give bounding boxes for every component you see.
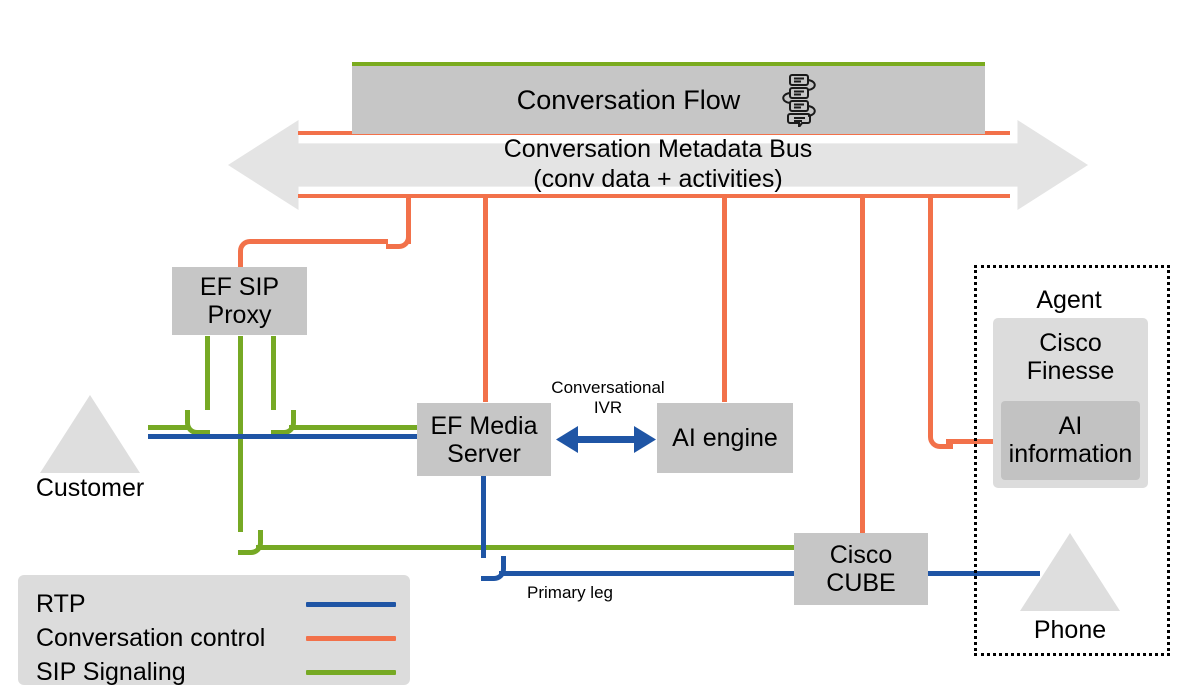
green-proxy-left-vertical [205, 336, 210, 410]
node-cisco-cube[interactable]: Cisco CUBE [794, 533, 928, 605]
legend: RTP Conversation control SIP Signaling [18, 575, 410, 685]
bus-label: Conversation Metadata Bus (conv data + a… [228, 134, 1088, 194]
green-proxy-right-vertical [271, 336, 276, 410]
blue-run-primary-leg [499, 571, 795, 576]
legend-swatch-conversation-control [306, 636, 396, 641]
conversation-flow-label: Conversation Flow [517, 85, 741, 116]
legend-label-sip-signaling: SIP Signaling [36, 658, 186, 687]
conversational-ivr-line1: Conversational [543, 378, 673, 398]
orange-run-to-sipproxy [258, 239, 388, 244]
green-run-to-ciscocube [256, 545, 794, 550]
node-ef-media-server[interactable]: EF Media Server [417, 403, 551, 476]
blue-run-customer-mediaserver [148, 434, 420, 439]
phone-label: Phone [1000, 616, 1140, 645]
cisco-finesse-label: Cisco Finesse [993, 330, 1148, 385]
cisco-finesse-line2: Finesse [993, 358, 1148, 386]
customer-label: Customer [20, 474, 160, 503]
orange-drop-ciscocube [860, 196, 865, 536]
legend-item-rtp: RTP [36, 589, 396, 619]
orange-drop-aiinfo-vertical [928, 196, 933, 428]
ef-media-server-line1: EF Media [431, 412, 538, 440]
ai-engine-label: AI engine [672, 424, 778, 452]
legend-item-conversation-control: Conversation control [36, 623, 396, 653]
green-run-to-mediaserver [289, 425, 419, 430]
orange-elbow-c [928, 424, 953, 449]
bus-label-line1: Conversation Metadata Bus [228, 134, 1088, 164]
legend-swatch-rtp [306, 602, 396, 607]
green-run-to-customer [148, 425, 188, 430]
customer-triangle-icon [40, 395, 140, 473]
conversation-flow-box[interactable]: Conversation Flow [352, 62, 985, 134]
conversational-ivr-arrow [556, 424, 656, 456]
conversation-flow-icon [776, 73, 820, 127]
conversational-ivr-label: Conversational IVR [543, 378, 673, 417]
legend-label-rtp: RTP [36, 590, 86, 619]
cisco-cube-line1: Cisco [826, 541, 895, 569]
ef-sip-proxy-line2: Proxy [200, 301, 279, 329]
cisco-cube-line2: CUBE [826, 569, 895, 597]
green-elbow-right [271, 410, 296, 435]
node-ef-sip-proxy[interactable]: EF SIP Proxy [172, 267, 307, 335]
ef-media-server-line2: Server [431, 440, 538, 468]
green-elbow-mid [238, 530, 263, 555]
green-elbow-left [185, 410, 210, 435]
blue-elbow-mediaserver [481, 556, 506, 581]
conversational-ivr-line2: IVR [543, 398, 673, 418]
node-cisco-finesse[interactable]: Cisco Finesse AI information [993, 318, 1148, 488]
primary-leg-label: Primary leg [490, 583, 650, 603]
cisco-finesse-line1: Cisco [993, 330, 1148, 358]
diagram-canvas: Conversation Flow [0, 0, 1200, 700]
bus-label-line2: (conv data + activities) [228, 164, 1088, 194]
node-ai-engine[interactable]: AI engine [657, 403, 793, 473]
ef-sip-proxy-line1: EF SIP [200, 273, 279, 301]
blue-drop-mediaserver [481, 476, 486, 558]
node-ai-information[interactable]: AI information [1001, 401, 1140, 480]
orange-drop-mediaserver [483, 196, 488, 402]
orange-elbow-a [386, 224, 411, 249]
ai-information-line1: AI [1009, 413, 1133, 441]
agent-title: Agent [974, 286, 1164, 315]
legend-label-conversation-control: Conversation control [36, 624, 265, 653]
bus-rail-bottom [298, 194, 1010, 198]
orange-drop-aiengine [722, 196, 727, 402]
legend-swatch-sip-signaling [306, 670, 396, 675]
ai-information-line2: information [1009, 441, 1133, 469]
legend-item-sip-signaling: SIP Signaling [36, 657, 396, 687]
